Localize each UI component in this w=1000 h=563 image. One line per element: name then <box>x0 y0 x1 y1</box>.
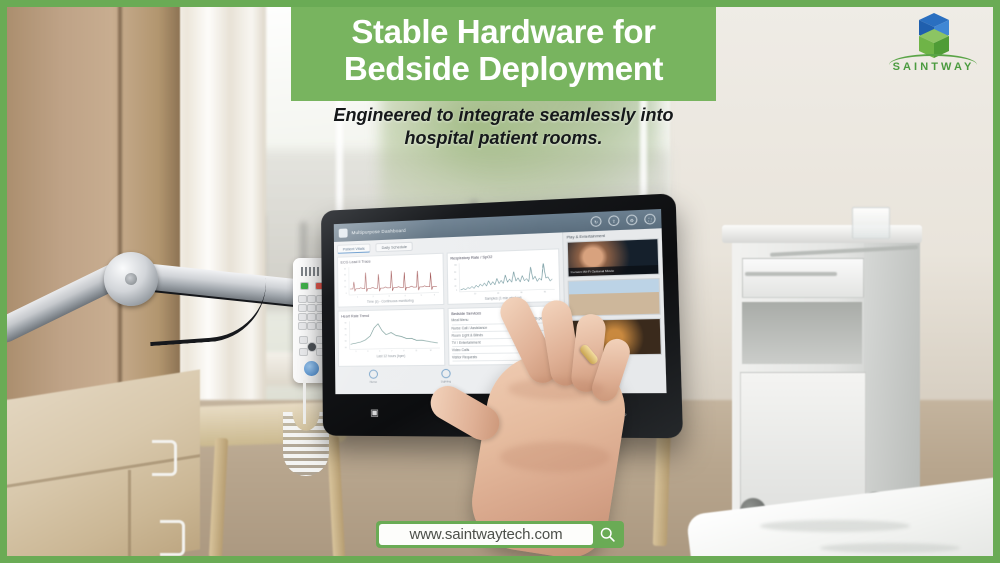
svg-text:3: 3 <box>388 296 389 298</box>
svg-text:5: 5 <box>420 295 421 297</box>
subheadline: Engineered to integrate seamlessly into … <box>291 104 716 149</box>
svg-text:60: 60 <box>454 279 456 281</box>
wooden-wardrobe <box>0 0 180 430</box>
svg-text:3: 3 <box>367 351 368 353</box>
tab-patient-vitals[interactable]: Patient Vitals <box>337 243 371 254</box>
knuckle-shadow <box>500 442 610 472</box>
dresser-handle[interactable] <box>160 520 185 556</box>
svg-text:30: 30 <box>344 274 346 276</box>
svg-text:80: 80 <box>344 329 346 331</box>
quick-action-nurse[interactable]: Nurse <box>369 370 378 384</box>
trend-panel: Heart Rate Trend 908070 6050 <box>338 308 446 366</box>
subheadline-line-2: hospital patient rooms. <box>291 127 716 150</box>
fullscreen-icon[interactable]: ⛶ <box>644 214 656 225</box>
svg-text:5: 5 <box>379 351 380 353</box>
sheet-fold <box>820 543 960 553</box>
svg-text:0: 0 <box>345 293 346 295</box>
dashboard-actions: ↻ ⇧ ⚙ ⛶ <box>590 214 655 228</box>
keypad-key[interactable] <box>298 313 307 321</box>
speaker-grille-icon <box>301 267 321 276</box>
cabinet-top <box>722 225 922 243</box>
svg-text:2: 2 <box>372 296 373 298</box>
svg-text:6: 6 <box>433 295 434 297</box>
saintway-logo: SAINTWAY <box>881 10 986 88</box>
video-thumbnail[interactable]: In-room Wi-Fi Optional Movie <box>567 238 660 277</box>
ecg-chart: 403020 100 123 456 <box>341 262 441 299</box>
svg-text:80: 80 <box>454 272 456 274</box>
upload-icon[interactable]: ⇧ <box>608 215 619 226</box>
svg-text:100: 100 <box>454 265 457 267</box>
website-url-bar[interactable]: www.saintwaytech.com <box>376 521 624 548</box>
svg-text:11: 11 <box>415 351 417 353</box>
keypad-key[interactable] <box>298 322 307 330</box>
navigation-pad-button[interactable] <box>307 342 317 352</box>
svg-text:60: 60 <box>344 341 346 343</box>
headline-banner: Stable Hardware for Bedside Deployment <box>291 0 716 101</box>
svg-text:20: 20 <box>344 280 346 282</box>
headline-line-1: Stable Hardware for <box>351 14 655 51</box>
cabinet-handle-rail[interactable] <box>745 272 837 276</box>
cabinet-door[interactable] <box>740 372 866 514</box>
svg-text:9: 9 <box>403 351 404 353</box>
cabinet-drawer[interactable] <box>742 258 864 298</box>
svg-text:50: 50 <box>344 348 346 350</box>
refresh-icon[interactable]: ↻ <box>590 216 601 227</box>
ecg-panel: ECG Lead II Trace 403020 100 <box>337 253 444 308</box>
svg-text:40: 40 <box>454 286 456 288</box>
knuckle-shadow <box>508 378 604 400</box>
url-text: www.saintwaytech.com <box>379 524 593 545</box>
dresser-handle[interactable] <box>152 440 177 476</box>
video-thumbnail-caption: In-room Wi-Fi Optional Movie <box>568 265 658 276</box>
drinking-glass <box>852 207 890 239</box>
hospital-app-icon <box>339 228 348 237</box>
svg-text:70: 70 <box>344 335 346 337</box>
svg-text:1: 1 <box>355 352 356 354</box>
logo-swoosh <box>889 54 977 65</box>
settings-icon[interactable]: ⚙ <box>626 214 638 225</box>
subheadline-line-1: Engineered to integrate seamlessly into <box>291 104 716 127</box>
keypad-key[interactable] <box>307 313 316 321</box>
quick-action-label: Nurse <box>369 379 378 383</box>
keypad-key[interactable] <box>307 304 316 312</box>
keypad-key[interactable] <box>307 322 316 330</box>
search-icon[interactable] <box>593 524 621 545</box>
spo2-chart: 1008060 400 20406080 <box>450 258 556 296</box>
cabinet-side-panel <box>864 240 920 520</box>
svg-text:7: 7 <box>391 351 392 353</box>
keypad-key[interactable] <box>298 304 307 312</box>
svg-text:4: 4 <box>404 296 405 298</box>
dashboard-title: Multipurpose Dashboard <box>351 227 405 234</box>
svg-text:1: 1 <box>356 297 357 299</box>
sheet-fold <box>760 520 910 532</box>
keypad-key[interactable] <box>298 295 307 303</box>
wardrobe-seam <box>118 0 122 430</box>
svg-text:10: 10 <box>344 286 346 288</box>
dresser-seam <box>128 470 131 563</box>
call-accept-icon[interactable] <box>300 282 309 290</box>
search-icon-svg <box>599 526 616 543</box>
nurse-call-icon <box>369 370 378 379</box>
svg-text:90: 90 <box>344 323 346 325</box>
svg-text:12: 12 <box>429 350 431 352</box>
saintway-cube-logo <box>905 10 963 60</box>
headline-line-2: Bedside Deployment <box>344 51 663 88</box>
home-icon[interactable]: ▣ <box>370 408 379 417</box>
light-control-button[interactable] <box>299 336 308 344</box>
svg-text:40: 40 <box>343 269 345 271</box>
trend-panel-caption: Last 12 hours (bpm) <box>341 353 441 358</box>
keypad-key[interactable] <box>307 295 316 303</box>
trend-chart: 908070 6050 135 791112 <box>341 318 441 354</box>
nurse-call-button-icon[interactable] <box>304 361 319 376</box>
cabinet-open-shelf <box>742 302 862 364</box>
cube-logo-svg <box>905 10 963 60</box>
tab-daily-schedule[interactable]: Daily Schedule <box>375 242 413 253</box>
promo-banner-image: Multipurpose Dashboard ↻ ⇧ ⚙ ⛶ Patient V… <box>0 0 1000 563</box>
